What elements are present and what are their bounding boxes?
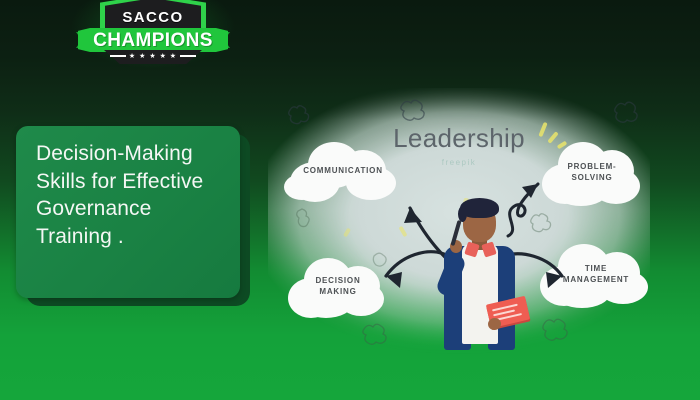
cloud-label: PROBLEM- SOLVING	[540, 162, 644, 184]
puzzle-piece-icon	[296, 206, 316, 232]
puzzle-piece-icon	[286, 104, 312, 126]
title-card: Decision-Making Skills for Effective Gov…	[16, 126, 240, 298]
puzzle-piece-icon	[540, 316, 570, 342]
logo-top-text: SACCO	[105, 10, 201, 25]
logo-stars: ★ ★ ★ ★ ★	[104, 51, 202, 63]
presenter-illustration	[432, 196, 528, 356]
puzzle-piece-icon	[612, 100, 640, 124]
promo-banner: SACCO CHAMPIONS ★ ★ ★ ★ ★ Leade	[0, 0, 700, 400]
cloud-label: COMMUNICATION	[284, 166, 402, 177]
puzzle-piece-icon	[398, 98, 428, 122]
cloud-problem-solving: PROBLEM- SOLVING	[540, 140, 644, 208]
sacco-champions-logo[interactable]: SACCO CHAMPIONS ★ ★ ★ ★ ★	[78, 2, 228, 68]
logo-ribbon-text: CHAMPIONS	[78, 31, 228, 50]
puzzle-piece-icon	[360, 322, 390, 346]
cloud-communication: COMMUNICATION	[284, 140, 402, 202]
page-title: Decision-Making Skills for Effective Gov…	[36, 140, 232, 251]
